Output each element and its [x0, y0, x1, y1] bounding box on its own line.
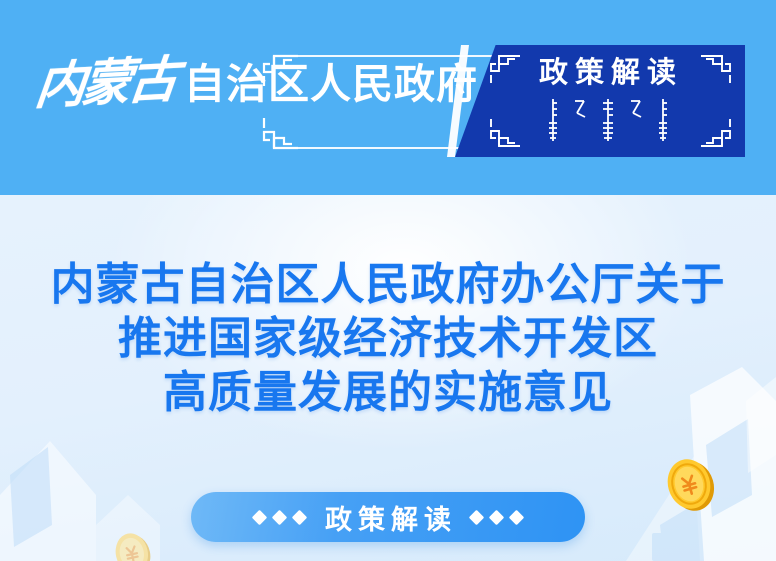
page-title: 内蒙古自治区人民政府办公厅关于 推进国家级经济技术开发区 高质量发展的实施意见 — [0, 258, 776, 420]
mongolian-glyph — [629, 97, 643, 143]
logo-calligraphy-text: 内蒙古 — [33, 54, 177, 111]
diamond-icon — [509, 509, 525, 525]
diamond-icon — [252, 509, 268, 525]
meander-corner-icon — [701, 53, 735, 83]
badge-content: 政策解读 — [470, 45, 745, 157]
diamond-icon — [489, 509, 505, 525]
policy-interpretation-button-label: 政策解读 — [319, 498, 457, 537]
mongolian-glyph — [657, 97, 669, 143]
left-diamond-dots-icon — [254, 512, 305, 523]
title-line-1: 内蒙古自治区人民政府办公厅关于 — [0, 258, 776, 312]
meander-corner-icon — [701, 119, 735, 149]
site-header: 内蒙古 自治区人民政府 — [0, 0, 776, 195]
mongolian-glyph — [601, 97, 615, 143]
gold-coin-icon — [110, 528, 156, 561]
mongolian-glyph — [547, 97, 559, 143]
title-line-2: 推进国家级经济技术开发区 — [0, 312, 776, 366]
diamond-icon — [292, 509, 308, 525]
logo-government-text: 自治区人民政府 — [184, 64, 478, 108]
government-logo[interactable]: 内蒙古 自治区人民政府 — [36, 58, 478, 108]
policy-interpretation-banner: 内蒙古 自治区人民政府 — [0, 0, 776, 561]
title-line-3: 高质量发展的实施意见 — [0, 366, 776, 420]
meander-corner-icon — [486, 119, 520, 149]
meander-corner-icon — [486, 53, 520, 83]
mongolian-glyph — [573, 97, 587, 143]
diamond-icon — [272, 509, 288, 525]
diamond-icon — [469, 509, 485, 525]
right-diamond-dots-icon — [471, 512, 522, 523]
policy-interpretation-button[interactable]: 政策解读 — [191, 492, 585, 542]
gold-coin-icon — [660, 452, 718, 516]
meander-corner-icon — [258, 118, 298, 152]
